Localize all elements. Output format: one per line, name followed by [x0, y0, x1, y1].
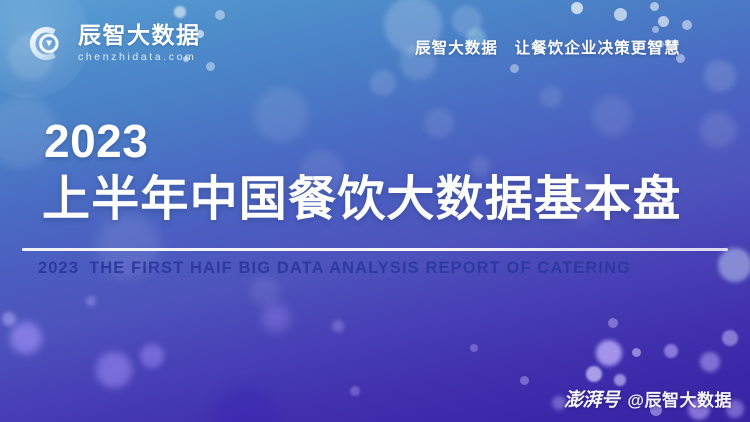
bokeh-circle [2, 312, 16, 326]
subtitle-english: THE FIRST HAIF BIG DATA ANALYSIS REPORT … [89, 259, 631, 277]
bokeh-circle [520, 376, 529, 385]
cover-header: 辰智大数据 chenzhidata.com 辰智大数据 让餐饮企业决策更智慧 [0, 0, 750, 95]
bokeh-circle [140, 344, 164, 368]
brand-name: 辰智大数据 [78, 24, 201, 47]
bokeh-circle [596, 340, 622, 366]
watermark-platform: 澎湃号 [564, 385, 620, 412]
bokeh-circle [96, 352, 132, 388]
cover-year: 2023 [44, 118, 750, 164]
title-divider [22, 248, 728, 251]
bokeh-circle [10, 322, 42, 354]
bokeh-circle [250, 276, 280, 306]
bokeh-circle [332, 320, 344, 332]
watermark: 澎湃号 @辰智大数据 [564, 385, 732, 412]
watermark-account: @辰智大数据 [627, 386, 732, 411]
bokeh-circle [700, 352, 720, 372]
bokeh-circle [722, 330, 738, 346]
bokeh-circle [608, 318, 618, 328]
bokeh-circle [718, 248, 750, 282]
bokeh-circle [212, 388, 280, 422]
bokeh-circle [470, 344, 478, 352]
bokeh-circle [664, 344, 678, 358]
brand-logo-text: 辰智大数据 chenzhidata.com [78, 24, 201, 63]
chenzhi-c-logo-icon [26, 22, 69, 65]
bokeh-circle [632, 348, 641, 357]
page-title: 上半年中国餐饮大数据基本盘 [42, 174, 750, 226]
bokeh-circle [350, 386, 360, 396]
subtitle-year: 2023 [38, 259, 79, 277]
report-cover-slide: 辰智大数据 chenzhidata.com 辰智大数据 让餐饮企业决策更智慧 2… [0, 0, 750, 422]
brand-logo[interactable]: 辰智大数据 chenzhidata.com [26, 22, 201, 65]
cover-title-area: 2023 上半年中国餐饮大数据基本盘 [0, 118, 750, 226]
bokeh-circle [262, 304, 290, 332]
brand-domain: chenzhidata.com [78, 52, 201, 63]
bokeh-circle [586, 366, 602, 382]
bokeh-circle [86, 296, 96, 306]
cover-subtitle: 2023THE FIRST HAIF BIG DATA ANALYSIS REP… [38, 259, 631, 278]
header-tagline: 辰智大数据 让餐饮企业决策更智慧 [415, 36, 681, 58]
